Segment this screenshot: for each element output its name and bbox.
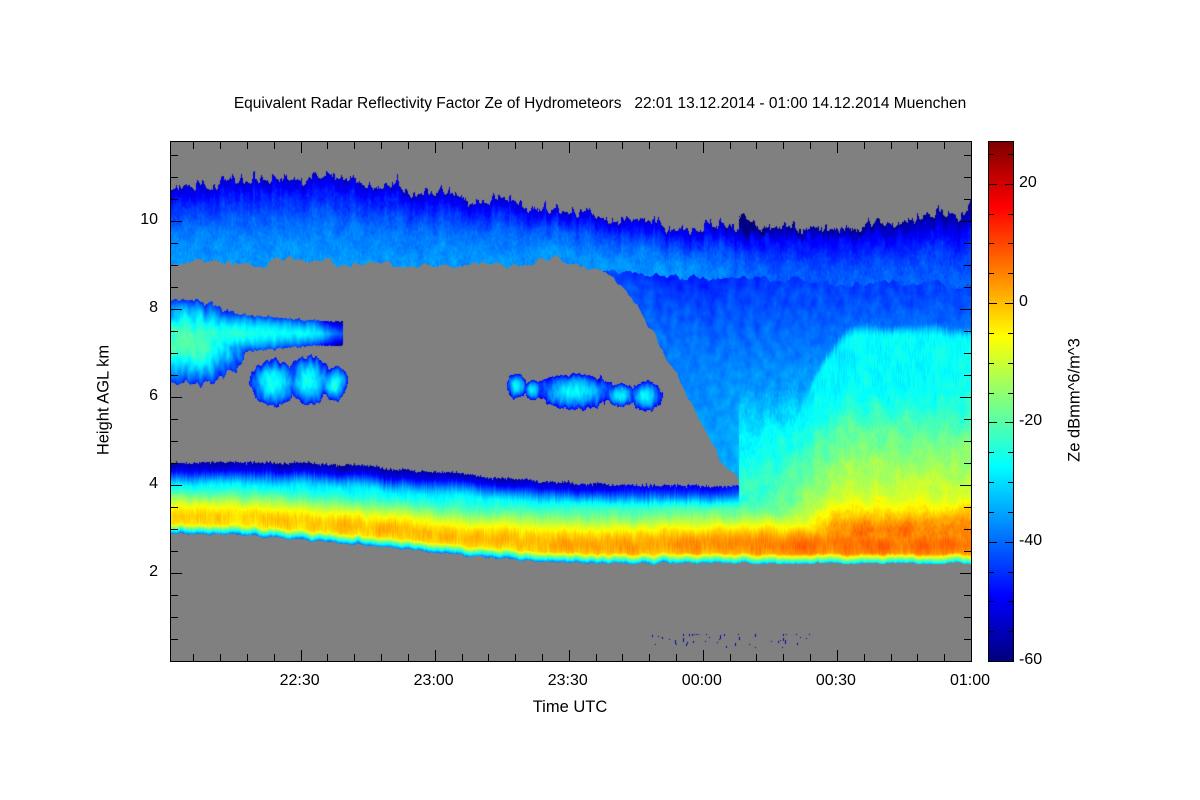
colorbar-tick (1008, 273, 1013, 274)
x-tick-bottom (649, 654, 650, 661)
y-tick-right (964, 243, 971, 244)
y-tick-label: 4 (149, 475, 158, 493)
y-tick-right (964, 375, 971, 376)
colorbar-tick (1008, 631, 1013, 632)
y-tick-right (964, 661, 971, 662)
y-tick-right (964, 463, 971, 464)
x-tick-top (462, 142, 463, 149)
colorbar-tick-label: -20 (1019, 412, 1042, 430)
colorbar-tick (989, 452, 994, 453)
plot-area (170, 141, 972, 662)
y-tick-right (964, 551, 971, 552)
colorbar-tick (1005, 184, 1013, 185)
y-tick-left (171, 595, 178, 596)
x-tick-bottom (971, 650, 972, 661)
x-tick-bottom (703, 650, 704, 661)
x-tick-top (247, 142, 248, 149)
y-tick-left (171, 353, 178, 354)
y-tick-right (964, 617, 971, 618)
x-tick-top (220, 142, 221, 149)
colorbar-tick (989, 363, 994, 364)
y-tick-right (964, 595, 971, 596)
y-tick-right (964, 441, 971, 442)
y-tick-left (171, 507, 178, 508)
x-tick-bottom (837, 650, 838, 661)
x-tick-bottom (274, 654, 275, 661)
y-tick-left (171, 617, 178, 618)
colorbar-title: Ze dBmm^6/m^3 (1066, 338, 1085, 462)
colorbar-tick-label: -40 (1019, 532, 1042, 550)
x-tick-bottom (569, 650, 570, 661)
radar-heatmap-canvas (171, 142, 971, 661)
x-tick-label: 23:30 (548, 672, 588, 690)
y-tick-left (171, 177, 178, 178)
colorbar-tick (989, 184, 997, 185)
y-tick-right (964, 353, 971, 354)
y-tick-right (964, 639, 971, 640)
x-tick-top (274, 142, 275, 149)
y-tick-left (171, 397, 182, 398)
colorbar-gradient (989, 142, 1013, 661)
x-tick-bottom (327, 654, 328, 661)
colorbar-tick (989, 422, 997, 423)
colorbar-tick (989, 482, 994, 483)
x-tick-bottom (408, 654, 409, 661)
x-tick-top (917, 142, 918, 149)
colorbar-tick (1008, 243, 1013, 244)
x-tick-label: 01:00 (950, 672, 990, 690)
x-axis-title: Time UTC (533, 698, 608, 717)
y-tick-right (964, 199, 971, 200)
y-tick-left (171, 419, 178, 420)
y-tick-right (964, 177, 971, 178)
x-tick-bottom (622, 654, 623, 661)
x-tick-bottom (596, 654, 597, 661)
colorbar-tick (1005, 661, 1013, 662)
y-tick-left (171, 441, 178, 442)
y-tick-right (960, 485, 971, 486)
colorbar-tick (989, 601, 994, 602)
x-tick-bottom (488, 654, 489, 661)
y-tick-label: 10 (140, 211, 158, 229)
x-tick-top (354, 142, 355, 149)
y-tick-left (171, 243, 178, 244)
x-tick-top (569, 142, 570, 153)
x-tick-top (756, 142, 757, 149)
y-tick-left (171, 155, 178, 156)
page-title: Equivalent Radar Reflectivity Factor Ze … (0, 95, 1200, 113)
colorbar-tick (1008, 214, 1013, 215)
x-tick-bottom (944, 654, 945, 661)
colorbar-tick (989, 572, 994, 573)
x-tick-top (649, 142, 650, 149)
x-tick-top (596, 142, 597, 149)
x-tick-bottom (381, 654, 382, 661)
x-tick-bottom (891, 654, 892, 661)
colorbar-tick (989, 303, 997, 304)
x-tick-bottom (542, 654, 543, 661)
colorbar-tick (1008, 512, 1013, 513)
x-tick-bottom (730, 654, 731, 661)
x-tick-bottom (247, 654, 248, 661)
colorbar-tick (1005, 303, 1013, 304)
x-tick-top (193, 142, 194, 149)
x-tick-top (837, 142, 838, 153)
y-tick-left (171, 287, 178, 288)
y-tick-right (964, 155, 971, 156)
y-tick-left (171, 485, 182, 486)
colorbar-tick-label: 20 (1019, 174, 1037, 192)
y-tick-right (964, 265, 971, 266)
y-tick-right (964, 419, 971, 420)
colorbar-tick (989, 393, 994, 394)
colorbar-tick (989, 154, 994, 155)
x-tick-bottom (756, 654, 757, 661)
x-tick-top (864, 142, 865, 149)
y-tick-left (171, 661, 178, 662)
y-tick-left (171, 551, 178, 552)
colorbar-tick-label: 0 (1019, 293, 1028, 311)
colorbar-tick (989, 542, 997, 543)
x-tick-bottom (864, 654, 865, 661)
x-tick-bottom (354, 654, 355, 661)
y-tick-left (171, 639, 178, 640)
x-tick-top (515, 142, 516, 149)
x-tick-top (971, 142, 972, 153)
x-tick-label: 00:30 (816, 672, 856, 690)
radar-reflectivity-figure: Equivalent Radar Reflectivity Factor Ze … (0, 0, 1200, 800)
x-tick-label: 23:00 (414, 672, 454, 690)
colorbar-tick (1008, 154, 1013, 155)
y-tick-right (964, 507, 971, 508)
colorbar-tick (1008, 393, 1013, 394)
colorbar-tick (989, 333, 994, 334)
x-tick-top (622, 142, 623, 149)
y-tick-right (964, 287, 971, 288)
y-tick-label: 6 (149, 387, 158, 405)
colorbar-tick (989, 273, 994, 274)
y-tick-left (171, 463, 178, 464)
y-tick-left (171, 199, 178, 200)
x-tick-bottom (810, 654, 811, 661)
y-tick-right (960, 573, 971, 574)
y-tick-right (960, 397, 971, 398)
y-tick-right (964, 331, 971, 332)
x-tick-bottom (917, 654, 918, 661)
colorbar-tick (1008, 363, 1013, 364)
colorbar-tick (989, 214, 994, 215)
y-tick-label: 2 (149, 563, 158, 581)
x-tick-bottom (301, 650, 302, 661)
y-tick-left (171, 221, 182, 222)
x-tick-bottom (515, 654, 516, 661)
x-tick-top (488, 142, 489, 149)
x-tick-top (542, 142, 543, 149)
x-tick-top (676, 142, 677, 149)
y-tick-left (171, 573, 182, 574)
y-tick-right (964, 529, 971, 530)
colorbar-tick (1008, 482, 1013, 483)
x-tick-top (327, 142, 328, 149)
x-tick-top (783, 142, 784, 149)
x-tick-bottom (462, 654, 463, 661)
x-tick-top (891, 142, 892, 149)
x-tick-top (435, 142, 436, 153)
y-tick-left (171, 331, 178, 332)
y-axis-title: Height AGL km (95, 345, 114, 455)
colorbar-tick (989, 243, 994, 244)
x-tick-bottom (220, 654, 221, 661)
colorbar-tick (989, 512, 994, 513)
x-tick-label: 22:30 (280, 672, 320, 690)
y-tick-right (960, 309, 971, 310)
x-tick-bottom (435, 650, 436, 661)
colorbar (988, 141, 1014, 662)
x-tick-top (730, 142, 731, 149)
colorbar-tick (1005, 422, 1013, 423)
x-tick-top (408, 142, 409, 149)
colorbar-tick (1005, 542, 1013, 543)
x-tick-top (301, 142, 302, 153)
x-tick-top (810, 142, 811, 149)
colorbar-tick (1008, 333, 1013, 334)
x-tick-bottom (676, 654, 677, 661)
x-tick-top (703, 142, 704, 153)
y-tick-left (171, 375, 178, 376)
y-tick-left (171, 309, 182, 310)
y-tick-left (171, 265, 178, 266)
y-tick-left (171, 529, 178, 530)
x-tick-label: 00:00 (682, 672, 722, 690)
colorbar-tick (1008, 601, 1013, 602)
y-tick-label: 8 (149, 299, 158, 317)
x-tick-top (381, 142, 382, 149)
y-tick-right (960, 221, 971, 222)
colorbar-tick (1008, 452, 1013, 453)
colorbar-tick (1008, 572, 1013, 573)
colorbar-tick (989, 631, 994, 632)
colorbar-tick-label: -60 (1019, 651, 1042, 669)
x-tick-bottom (193, 654, 194, 661)
x-tick-bottom (783, 654, 784, 661)
x-tick-top (944, 142, 945, 149)
colorbar-tick (989, 661, 997, 662)
